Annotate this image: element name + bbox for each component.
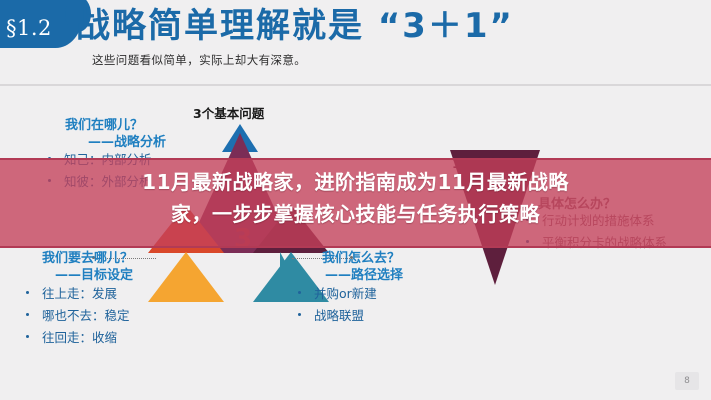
header-divider bbox=[0, 84, 711, 86]
slide-canvas: §1.2 战略简单理解就是 “3＋1” 这些问题看似简单，实际上却大有深意。 3… bbox=[0, 0, 711, 400]
page-subtitle: 这些问题看似简单，实际上却大有深意。 bbox=[92, 52, 306, 68]
overlay-title-line1: 11月最新战略家，进阶指南成为11月最新战略 bbox=[0, 166, 711, 198]
list-item: 哪也不去：稳定 bbox=[22, 305, 130, 327]
block-how-to-go-question: 我们怎么去？ bbox=[322, 250, 400, 268]
block-how-to-go-bullets: 并购or新建 战略联盟 bbox=[294, 283, 377, 327]
overlay-title-line2: 家，一步步掌握核心技能与任务执行策略 bbox=[0, 198, 711, 230]
section-number: §1.2 bbox=[6, 12, 76, 44]
block-where-to-go-question: 我们要去哪儿？ bbox=[42, 250, 133, 268]
overlay-band-top-edge bbox=[0, 158, 711, 160]
list-item: 往上走：发展 bbox=[22, 283, 130, 305]
block-where-to-go-answer: ——目标设定 bbox=[55, 267, 133, 285]
list-item: 战略联盟 bbox=[294, 305, 377, 327]
block-how-to-go-answer: ——路径选择 bbox=[325, 267, 403, 285]
list-item: 并购or新建 bbox=[294, 283, 377, 305]
diagram-top-label: 3个基本问题 bbox=[193, 106, 264, 123]
page-title: 战略简单理解就是 “3＋1” bbox=[76, 4, 514, 48]
page-number: 8 bbox=[675, 372, 699, 390]
list-item: 往回走：收缩 bbox=[22, 327, 130, 349]
overlay-band-bottom-edge bbox=[0, 246, 711, 248]
block-where-are-we-question: 我们在哪儿？ bbox=[65, 117, 143, 135]
block-where-to-go-bullets: 往上走：发展 哪也不去：稳定 往回走：收缩 bbox=[22, 283, 130, 349]
overlay-title: 11月最新战略家，进阶指南成为11月最新战略 家，一步步掌握核心技能与任务执行策… bbox=[0, 166, 711, 230]
triangle-orange-left bbox=[148, 252, 224, 302]
